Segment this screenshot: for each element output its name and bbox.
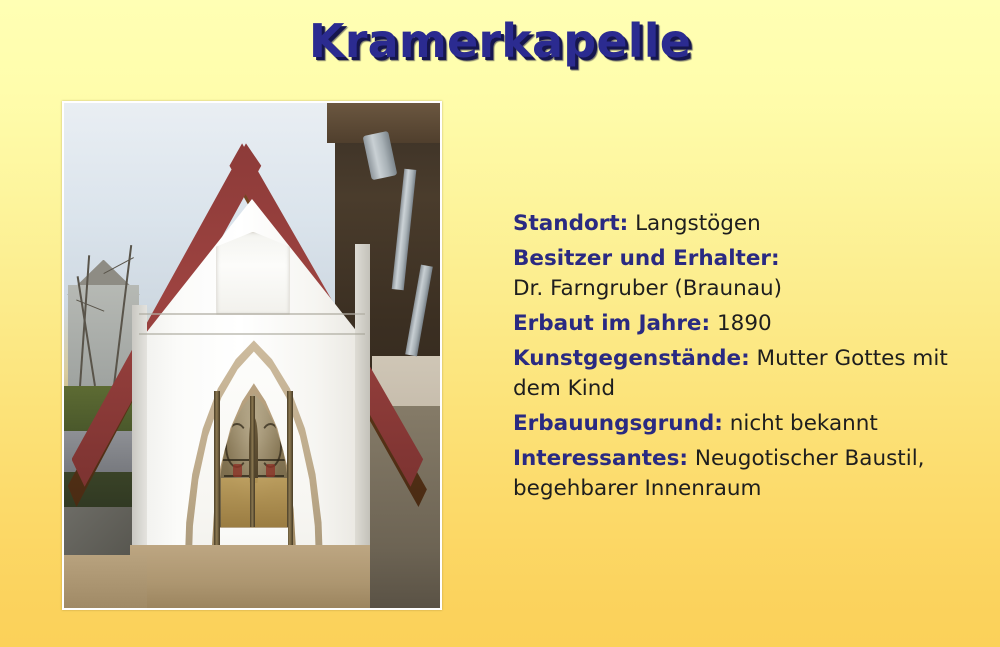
info-label: Besitzer und Erhalter: <box>513 244 983 274</box>
info-row-standort: Standort: Langstögen <box>513 209 983 239</box>
gate-ornament <box>233 464 242 476</box>
info-row-kunstgegenstaende: Kunstgegenstände: Mutter Gottes mit dem … <box>513 344 983 404</box>
info-value: nicht bekannt <box>730 411 878 436</box>
chapel-info-list: Standort: Langstögen Besitzer und Erhalt… <box>513 209 983 509</box>
info-label: Interessantes: <box>513 446 688 471</box>
info-row-erbauungsgrund: Erbauungsgrund: nicht bekannt <box>513 409 983 439</box>
chapel-photo-frame <box>62 101 442 610</box>
info-row-interessantes: Interessantes: Neugotischer Baustil, beg… <box>513 444 983 504</box>
info-value: Dr. Farngruber (Braunau) <box>513 276 782 301</box>
info-label: Erbauungsgrund: <box>513 411 723 436</box>
info-value: Langstögen <box>635 211 761 236</box>
page-title: Kramerkapelle <box>0 14 1000 68</box>
chapel-plinth <box>130 545 371 608</box>
gate-ornament <box>266 464 275 476</box>
info-label: Erbaut im Jahre: <box>513 311 710 336</box>
gate-post-centre <box>250 396 255 527</box>
chapel-plinth-left <box>64 555 147 608</box>
info-label: Kunstgegenstände: <box>513 346 750 371</box>
info-row-besitzer: Besitzer und Erhalter: Dr. Farngruber (B… <box>513 244 983 304</box>
cornice-line <box>139 313 365 315</box>
info-row-erbaut: Erbaut im Jahre: 1890 <box>513 309 983 339</box>
chapel-photo <box>64 103 440 608</box>
info-label: Standort: <box>513 211 628 236</box>
cornice-line <box>139 333 365 335</box>
info-value: 1890 <box>717 311 772 336</box>
slide-canvas: Kramerkapelle <box>0 0 1000 647</box>
gable-recess-panel <box>216 232 289 315</box>
